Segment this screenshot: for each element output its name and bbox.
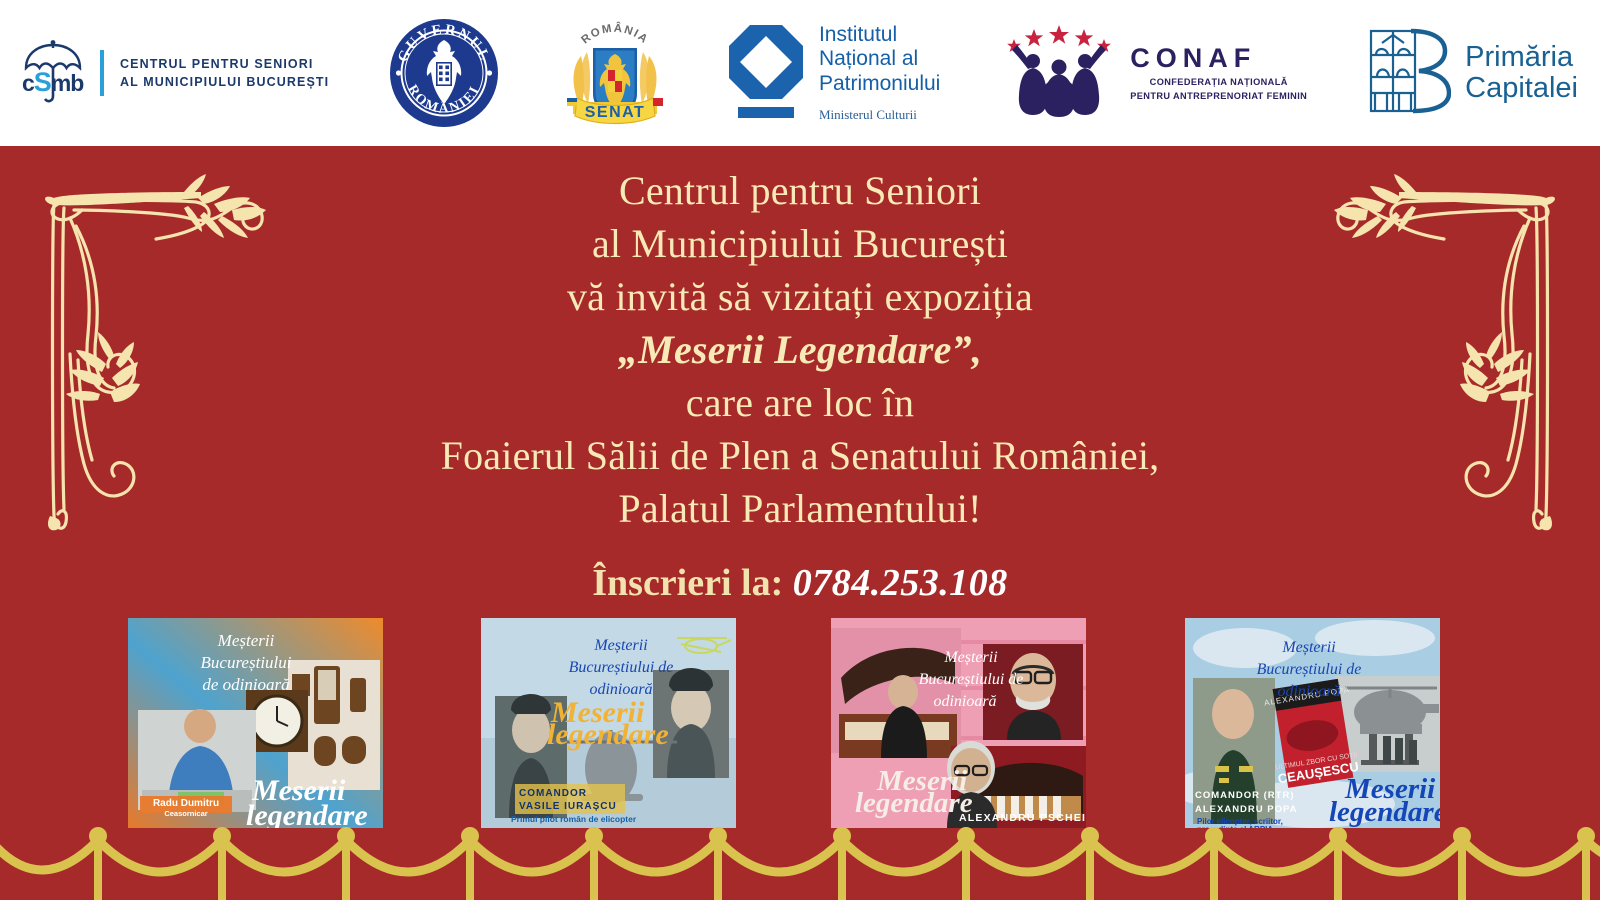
invitation-line-7: Palatul Parlamentului! [0, 482, 1600, 535]
senate-coat-of-arms-icon: ROMÂNIA [559, 12, 667, 134]
guvernul-romaniei-logo: GUVERNUL ROMÂNIEI [389, 13, 499, 133]
octagon-diamond-icon [727, 23, 805, 124]
thumb1-script-3: de odinioară [202, 675, 289, 694]
thumb2-script-1: Meșterii [593, 637, 647, 654]
three-women-stars-icon [1000, 23, 1118, 124]
b-monogram-icon [1367, 25, 1451, 122]
government-seal-icon: GUVERNUL ROMÂNIEI [389, 18, 499, 128]
csmb-wordmark: cSmb [22, 67, 83, 98]
svg-text:SENAT: SENAT [585, 104, 646, 121]
poster-root: cSmb CENTRUL PENTRU SENIORI AL MUNICIPIU… [0, 0, 1600, 900]
inp-line3: Patrimoniului [819, 72, 940, 97]
thumb2-big-2: legendare [547, 718, 669, 751]
invitation-panel: Centrul pentru Seniori al Municipiului B… [0, 146, 1600, 900]
thumb-radu-dumitru[interactable]: Radu Dumitru Ceasornicar Meșterii Bucure… [128, 618, 383, 828]
registration-phone[interactable]: 0784.253.108 [793, 562, 1008, 604]
thumb-alexandru-pscheidt[interactable]: Meșterii Bucureștiului de odinioară Mese… [831, 618, 1086, 828]
invitation-line-6: Foaierul Sălii de Plen a Senatului Român… [0, 429, 1600, 482]
logo-strip: cSmb CENTRUL PENTRU SENIORI AL MUNICIPIU… [0, 0, 1600, 146]
invitation-exhibition-title: „Meserii Legendare”, [0, 323, 1600, 376]
thumb-vasile-iurascu[interactable]: Meșterii Bucureștiului de odinioară Mese… [481, 618, 736, 828]
thumb1-script-2: Bucureștiului [201, 653, 292, 672]
thumb2-person-name-2: VASILE IURAȘCU [519, 801, 617, 812]
thumbnail-row: Radu Dumitru Ceasornicar Meșterii Bucure… [0, 618, 1600, 830]
thumb3-script-3: odinioară [933, 693, 996, 710]
invitation-line-2: al Municipiului București [0, 217, 1600, 270]
invitation-text: Centrul pentru Seniori al Municipiului B… [0, 164, 1600, 535]
gold-swag-border-icon [0, 814, 1600, 900]
csmb-logo: cSmb CENTRUL PENTRU SENIORI AL MUNICIPIU… [22, 13, 329, 133]
conaf-name: CONAF [1130, 43, 1307, 74]
invitation-line-5: care are loc în [0, 376, 1600, 429]
conaf-sub1: CONFEDERAȚIA NAȚIONALĂ [1130, 76, 1307, 89]
primaria-line2: Capitalei [1465, 73, 1578, 104]
primaria-capitalei-logo: Primăria Capitalei [1367, 13, 1578, 133]
thumb1-script-1: Meșterii [217, 631, 275, 650]
csmb-title: CENTRUL PENTRU SENIORI AL MUNICIPIULUI B… [120, 55, 329, 91]
registration-line: Înscrieri la: 0784.253.108 [0, 561, 1600, 605]
csmb-title-line2: AL MUNICIPIULUI BUCUREȘTI [120, 73, 329, 91]
inp-line1: Institutul [819, 23, 940, 48]
thumb4-person-name-1: COMANDOR (RTR) [1195, 790, 1295, 801]
thumb3-script-2: Bucureștiului de [919, 671, 1024, 688]
inp-logo: Institutul Național al Patrimoniului Min… [727, 13, 940, 133]
conaf-sub2: PENTRU ANTREPRENORIAT FEMININ [1130, 90, 1307, 103]
thumb3-script-1: Meșterii [943, 649, 997, 666]
csmb-title-line1: CENTRUL PENTRU SENIORI [120, 55, 329, 73]
thumb4-script-2: Bucureștiului de [1257, 661, 1362, 678]
thumb4-script-3: odinioară [1277, 683, 1340, 700]
inp-line2: Național al [819, 47, 940, 72]
registration-label: Înscrieri la: [592, 562, 783, 604]
thumb-alexandru-popa[interactable]: ALEXANDRU POPA ULTIMUL ZBOR CU SOȚII CEA… [1185, 618, 1440, 828]
inp-subtitle: Ministerul Culturii [819, 107, 940, 123]
thumb4-script-1: Meșterii [1281, 639, 1335, 656]
invitation-line-1: Centrul pentru Seniori [0, 164, 1600, 217]
conaf-logo: CONAF CONFEDERAȚIA NAȚIONALĂ PENTRU ANTR… [1000, 13, 1307, 133]
divider [100, 50, 104, 96]
invitation-line-3: vă invită să vizitați expoziția [0, 270, 1600, 323]
primaria-line1: Primăria [1465, 42, 1578, 73]
thumb1-person-name: Radu Dumitru [153, 798, 219, 809]
svg-text:ROMÂNIA: ROMÂNIA [579, 22, 650, 47]
umbrella-icon: cSmb [22, 40, 84, 106]
thumb2-person-name-1: COMANDOR [519, 788, 587, 799]
thumb2-script-2: Bucureștiului de [569, 659, 674, 676]
senat-logo: ROMÂNIA [559, 13, 667, 133]
